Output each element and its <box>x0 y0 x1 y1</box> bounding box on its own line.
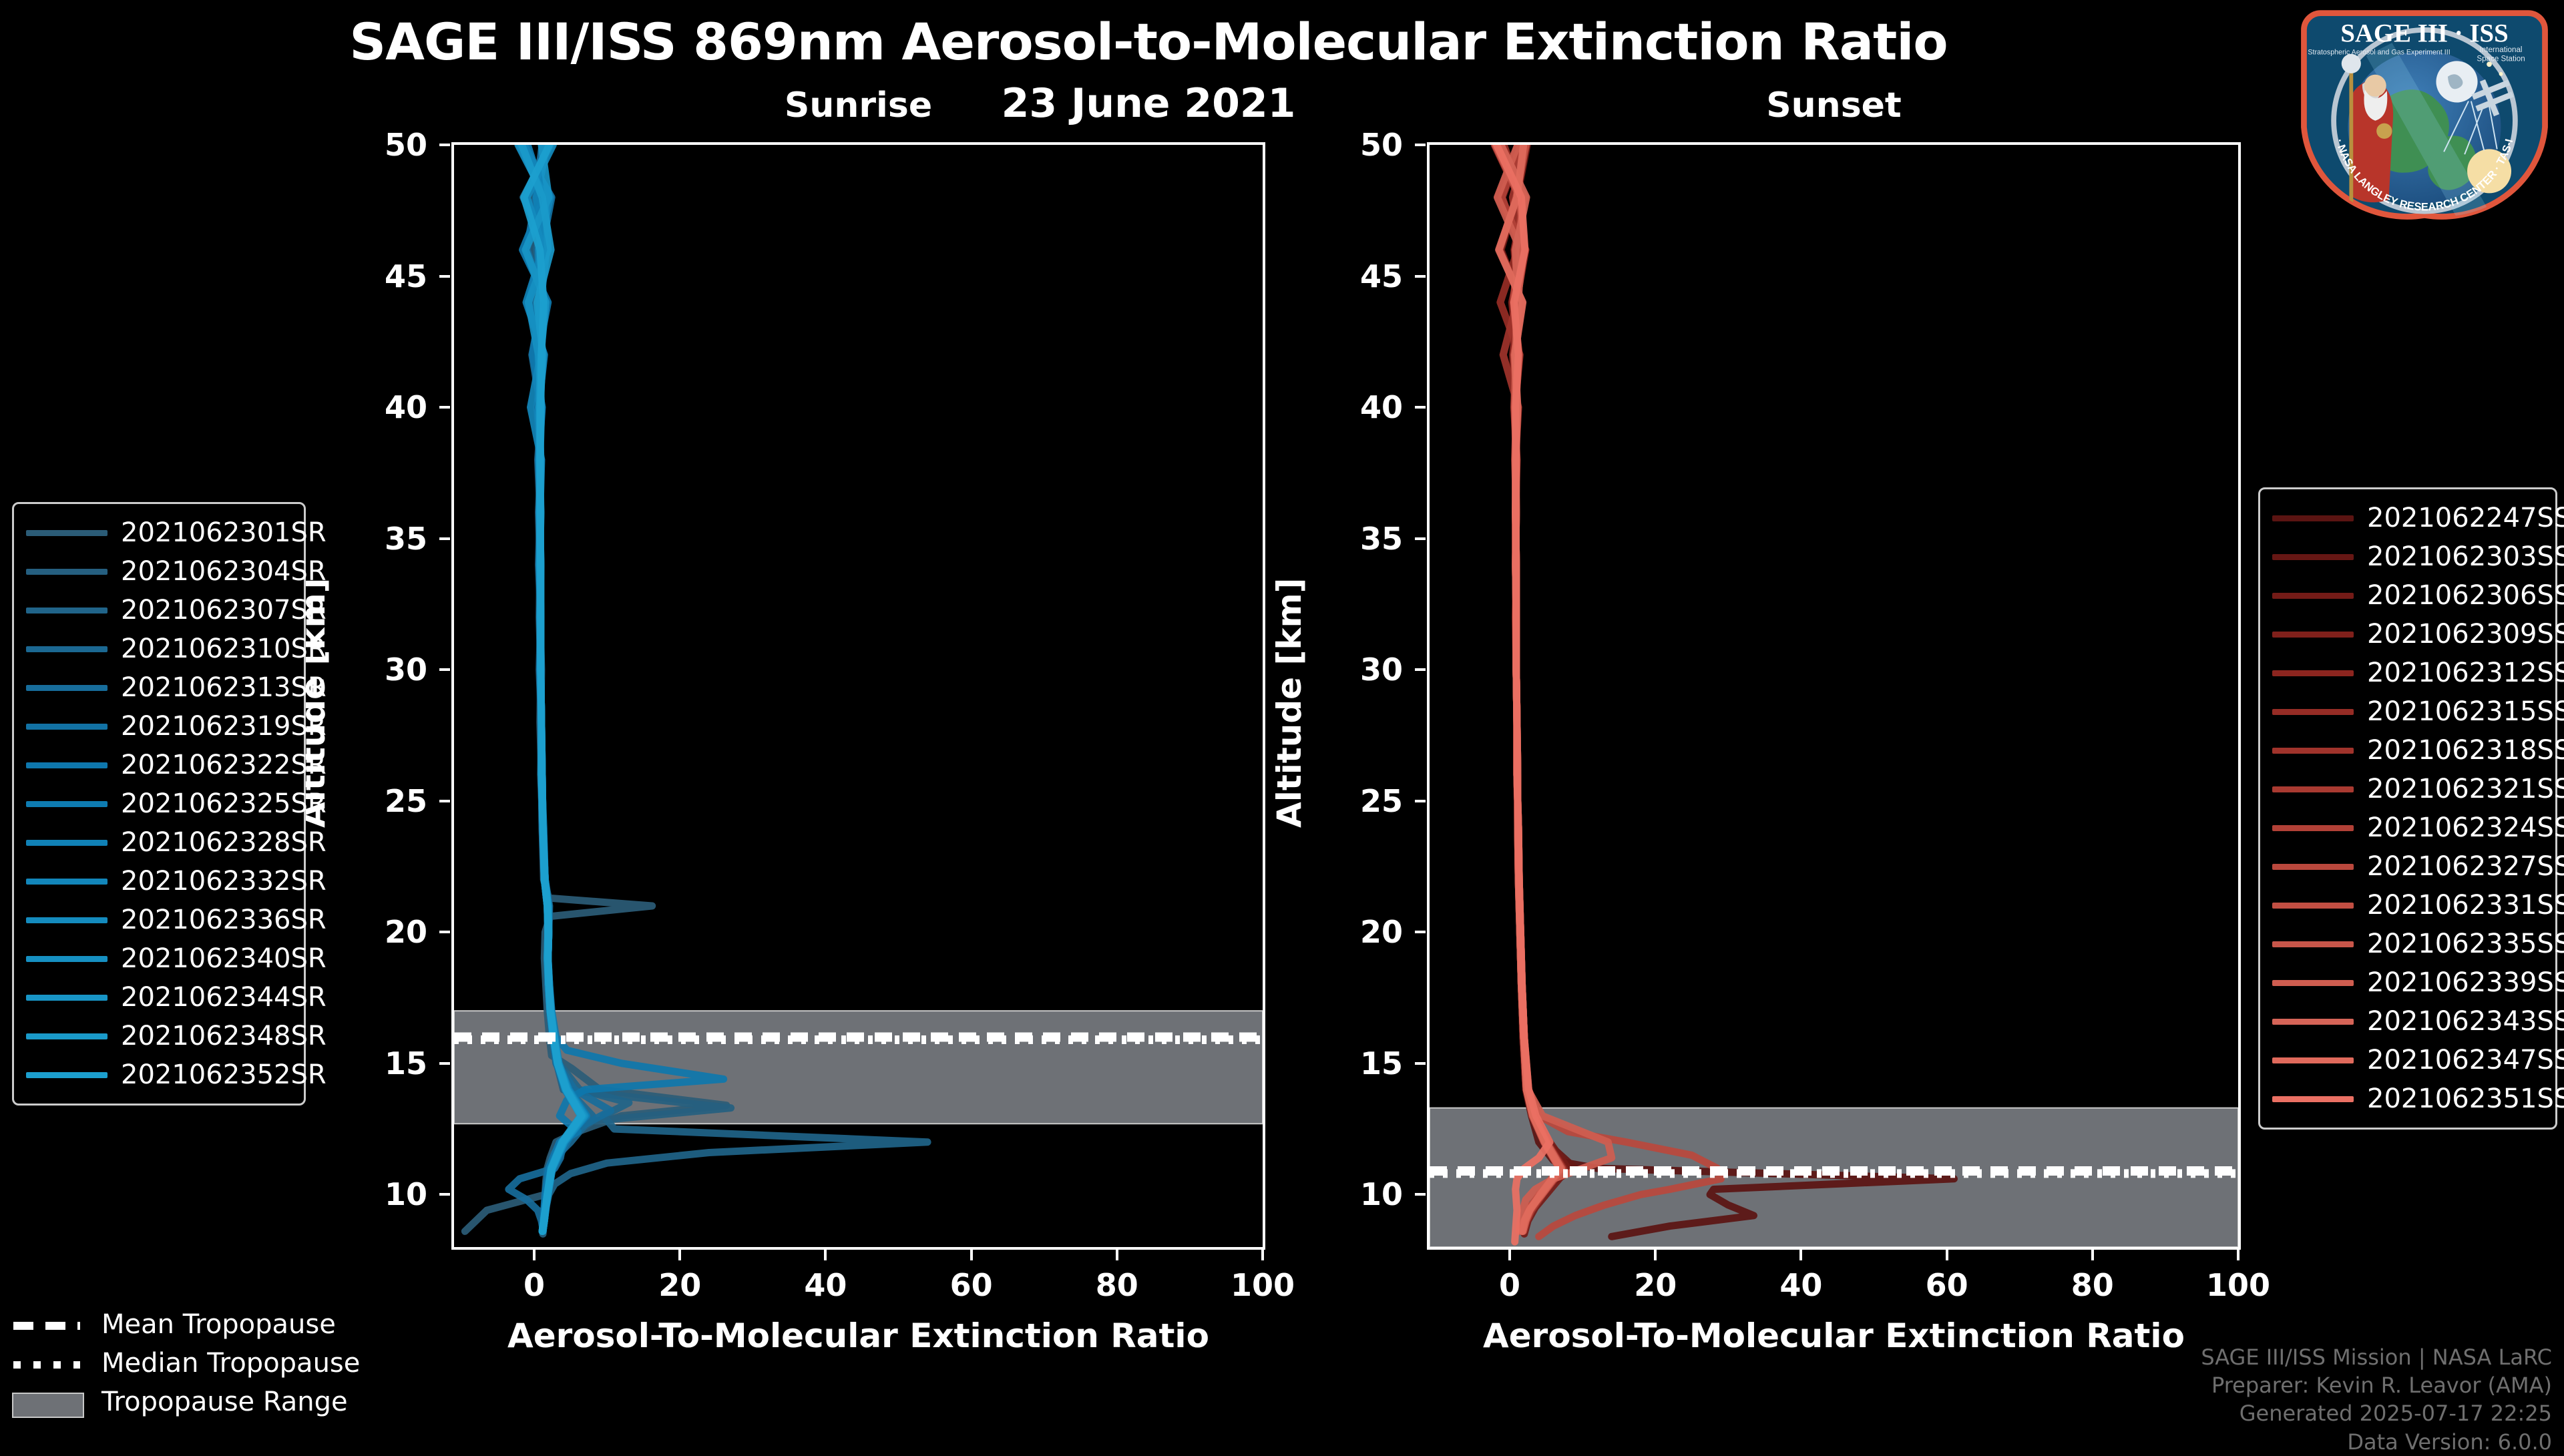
legend-item[interactable]: 2021062340SR <box>26 939 292 978</box>
legend-item[interactable]: 2021062247SS <box>2272 499 2543 537</box>
legend-item-mean-tropopause: Mean Tropopause <box>7 1305 381 1344</box>
legend-color-swatch <box>2272 980 2354 986</box>
legend-item-label: 2021062322SR <box>121 750 327 780</box>
y-axis-tick-mark <box>439 668 450 671</box>
profile-line <box>1500 145 1721 1236</box>
x-axis-tick-mark <box>824 1250 827 1260</box>
legend-item-label: 2021062328SR <box>121 827 327 858</box>
legend-color-swatch <box>2272 593 2354 599</box>
y-axis-tick-mark <box>1415 406 1426 409</box>
legend-item[interactable]: 2021062315SS <box>2272 692 2543 731</box>
legend-item-label: 2021062315SS <box>2367 696 2564 727</box>
legend-item-label: 2021062318SS <box>2367 735 2564 766</box>
x-axis-tick-mark <box>1508 1250 1511 1260</box>
legend-item[interactable]: 2021062322SR <box>26 746 292 784</box>
legend-item[interactable]: 2021062309SS <box>2272 615 2543 654</box>
page-title: SAGE III/ISS 869nm Aerosol-to-Molecular … <box>0 12 2297 71</box>
y-axis-tick-mark <box>439 800 450 802</box>
legend-item[interactable]: 2021062306SS <box>2272 576 2543 615</box>
legend-item-label: 2021062352SR <box>121 1059 327 1090</box>
y-axis-tick-mark <box>439 537 450 540</box>
svg-text:International: International <box>2480 45 2523 54</box>
y-axis-tick-mark <box>1415 668 1426 671</box>
y-axis-tick-mark <box>439 1193 450 1196</box>
x-axis-tick-mark <box>1261 1250 1264 1260</box>
legend-item-label: 2021062312SS <box>2367 658 2564 688</box>
legend-item-label: 2021062340SR <box>121 943 327 974</box>
legend-item-label: 2021062331SS <box>2367 890 2564 921</box>
legend-color-swatch <box>2272 554 2354 560</box>
y-axis-tick-label: 35 <box>327 521 427 557</box>
legend-item-label: 2021062339SS <box>2367 967 2564 998</box>
sunrise-event-legend: 2021062301SR2021062304SR2021062307SR2021… <box>12 502 306 1106</box>
legend-item[interactable]: 2021062318SS <box>2272 731 2543 770</box>
y-axis-tick-label: 20 <box>327 914 427 950</box>
y-axis-tick-mark <box>439 144 450 146</box>
x-axis-tick-label: 40 <box>772 1267 879 1303</box>
y-axis-tick-label: 30 <box>327 652 427 688</box>
sunset-event-legend: 2021062247SS2021062303SS2021062306SS2021… <box>2258 487 2557 1130</box>
x-axis-tick-mark <box>1116 1250 1118 1260</box>
x-axis-tick-label: 80 <box>1064 1267 1170 1303</box>
y-axis-tick-label: 45 <box>327 258 427 294</box>
legend-item-label: 2021062332SR <box>121 866 327 897</box>
y-axis-tick-mark <box>1415 1193 1426 1196</box>
x-axis-tick-label: 80 <box>2039 1267 2146 1303</box>
y-axis-tick-mark <box>1415 931 1426 933</box>
legend-item[interactable]: 2021062327SS <box>2272 847 2543 886</box>
legend-item-label: 2021062325SR <box>121 788 327 819</box>
svg-text:Space Station: Space Station <box>2477 54 2525 63</box>
legend-item-label: 2021062301SR <box>121 517 327 548</box>
legend-color-swatch <box>26 724 108 730</box>
y-axis-tick-label: 30 <box>1303 652 1403 688</box>
tropopause-legend: Mean Tropopause Median Tropopause Tropop… <box>7 1305 381 1421</box>
legend-color-swatch <box>26 646 108 652</box>
sunrise-x-axis-title: Aerosol-To-Molecular Extinction Ratio <box>451 1316 1265 1355</box>
legend-color-swatch <box>26 569 108 575</box>
legend-color-swatch <box>2272 1096 2354 1102</box>
legend-item[interactable]: 2021062324SS <box>2272 808 2543 847</box>
y-axis-tick-label: 50 <box>1303 127 1403 163</box>
legend-color-swatch <box>2272 1057 2354 1063</box>
legend-color-swatch <box>26 956 108 962</box>
legend-color-swatch <box>26 685 108 691</box>
legend-item[interactable]: 2021062339SS <box>2272 963 2543 1002</box>
svg-text:Stratospheric Aerosol and Gas: Stratospheric Aerosol and Gas Experiment… <box>2308 49 2450 57</box>
legend-color-swatch <box>26 879 108 885</box>
legend-color-swatch <box>26 762 108 768</box>
legend-color-swatch <box>2272 786 2354 792</box>
legend-item-label: 2021062335SS <box>2367 929 2564 959</box>
legend-item-label: 2021062303SS <box>2367 541 2564 572</box>
legend-color-swatch <box>26 917 108 923</box>
y-axis-tick-mark <box>1415 275 1426 278</box>
x-axis-tick-mark <box>678 1250 681 1260</box>
legend-item[interactable]: 2021062301SR <box>26 513 292 552</box>
sunrise-panel-title: Sunrise <box>451 85 1265 126</box>
legend-item-label: 2021062348SR <box>121 1021 327 1051</box>
sage-iii-iss-logo: SAGE III · ISS Stratospheric Aerosol and… <box>2294 4 2555 224</box>
legend-item[interactable]: 2021062348SR <box>26 1017 292 1055</box>
legend-item[interactable]: 2021062303SS <box>2272 537 2543 576</box>
y-axis-tick-mark <box>1415 537 1426 540</box>
y-axis-tick-label: 25 <box>327 783 427 819</box>
legend-item[interactable]: 2021062304SR <box>26 552 292 591</box>
x-axis-tick-mark <box>2237 1250 2239 1260</box>
legend-item[interactable]: 2021062331SS <box>2272 886 2543 925</box>
legend-item[interactable]: 2021062310SR <box>26 630 292 668</box>
legend-item[interactable]: 2021062325SR <box>26 784 292 823</box>
sunset-plot-panel <box>1427 142 2241 1250</box>
legend-item-median-tropopause: Median Tropopause <box>7 1344 381 1383</box>
legend-color-swatch <box>26 801 108 807</box>
y-axis-tick-label: 10 <box>327 1176 427 1212</box>
legend-item[interactable]: 2021062336SR <box>26 901 292 939</box>
x-axis-tick-mark <box>2091 1250 2094 1260</box>
legend-item[interactable]: 2021062344SR <box>26 978 292 1017</box>
sunrise-plot-panel <box>451 142 1265 1250</box>
y-axis-tick-label: 10 <box>1303 1176 1403 1212</box>
legend-item[interactable]: 2021062312SS <box>2272 654 2543 692</box>
x-axis-tick-mark <box>1799 1250 1802 1260</box>
credits-generated: Generated 2025-07-17 22:25 <box>2201 1399 2552 1427</box>
legend-item[interactable]: 2021062319SR <box>26 707 292 746</box>
legend-color-swatch <box>2272 941 2354 947</box>
credits-mission: SAGE III/ISS Mission | NASA LaRC <box>2201 1343 2552 1371</box>
x-axis-tick-label: 20 <box>1602 1267 1709 1303</box>
legend-item[interactable]: 2021062352SR <box>26 1055 292 1094</box>
legend-item[interactable]: 2021062332SR <box>26 862 292 901</box>
y-axis-tick-mark <box>1415 1062 1426 1065</box>
legend-item-label: 2021062306SS <box>2367 580 2564 611</box>
legend-color-swatch <box>26 1033 108 1039</box>
legend-color-swatch <box>2272 1019 2354 1025</box>
x-axis-tick-label: 40 <box>1747 1267 1854 1303</box>
sunset-plot-area <box>1430 145 2238 1247</box>
legend-color-swatch <box>2272 515 2354 521</box>
legend-color-swatch <box>26 530 108 536</box>
x-axis-tick-label: 60 <box>1894 1267 2000 1303</box>
y-axis-tick-label: 20 <box>1303 914 1403 950</box>
legend-item[interactable]: 2021062307SR <box>26 591 292 630</box>
x-axis-tick-label: 100 <box>2185 1267 2292 1303</box>
y-axis-tick-mark <box>1415 800 1426 802</box>
legend-color-swatch <box>2272 709 2354 715</box>
legend-item-tropopause-range: Tropopause Range <box>7 1383 381 1421</box>
legend-item[interactable]: 2021062347SS <box>2272 1041 2543 1079</box>
legend-item-label: 2021062343SS <box>2367 1006 2564 1037</box>
legend-item-label: 2021062327SS <box>2367 851 2564 882</box>
credits-preparer: Preparer: Kevin R. Leavor (AMA) <box>2201 1371 2552 1399</box>
legend-color-swatch <box>2272 903 2354 909</box>
legend-item-label: 2021062321SS <box>2367 774 2564 804</box>
x-axis-tick-mark <box>970 1250 973 1260</box>
legend-item-label: 2021062304SR <box>121 556 327 587</box>
legend-color-swatch <box>2272 670 2354 676</box>
credits-block: SAGE III/ISS Mission | NASA LaRC Prepare… <box>2201 1343 2552 1456</box>
legend-item-label: 2021062336SR <box>121 905 327 935</box>
y-axis-tick-mark <box>439 406 450 409</box>
sunset-x-axis-title: Aerosol-To-Molecular Extinction Ratio <box>1427 1316 2241 1355</box>
legend-item-label: 2021062351SS <box>2367 1083 2564 1114</box>
legend-color-swatch <box>2272 748 2354 754</box>
legend-item-label: 2021062310SR <box>121 634 327 664</box>
legend-item[interactable]: 2021062321SS <box>2272 770 2543 808</box>
legend-color-swatch <box>26 1072 108 1078</box>
legend-color-swatch <box>2272 632 2354 638</box>
profile-line <box>1502 145 1954 1236</box>
y-axis-tick-mark <box>439 275 450 278</box>
x-axis-tick-label: 100 <box>1209 1267 1316 1303</box>
x-axis-tick-mark <box>1946 1250 1948 1260</box>
y-axis-tick-label: 25 <box>1303 783 1403 819</box>
dashed-line-icon <box>7 1314 87 1334</box>
legend-color-swatch <box>2272 864 2354 870</box>
legend-item[interactable]: 2021062328SR <box>26 823 292 862</box>
x-axis-tick-label: 0 <box>481 1267 588 1303</box>
y-axis-tick-label: 15 <box>1303 1045 1403 1081</box>
y-axis-tick-mark <box>439 931 450 933</box>
x-axis-tick-mark <box>533 1250 536 1260</box>
legend-item[interactable]: 2021062351SS <box>2272 1079 2543 1118</box>
y-axis-tick-label: 40 <box>1303 389 1403 425</box>
legend-item-label: 2021062347SS <box>2367 1045 2564 1075</box>
dotted-line-icon <box>7 1353 87 1373</box>
legend-color-swatch <box>2272 825 2354 831</box>
x-axis-tick-label: 20 <box>626 1267 733 1303</box>
x-axis-tick-label: 60 <box>918 1267 1025 1303</box>
legend-item[interactable]: 2021062343SS <box>2272 1002 2543 1041</box>
y-axis-tick-mark <box>439 1062 450 1065</box>
legend-color-swatch <box>26 840 108 846</box>
sunset-y-axis-title: Altitude [km] <box>1270 577 1309 828</box>
legend-item-label: 2021062313SR <box>121 672 327 703</box>
legend-color-swatch <box>26 995 108 1001</box>
sunset-panel-title: Sunset <box>1427 85 2241 126</box>
legend-item[interactable]: 2021062313SR <box>26 668 292 707</box>
legend-item-label: 2021062307SR <box>121 595 327 626</box>
gray-band-swatch-icon <box>7 1392 87 1412</box>
legend-item-label: 2021062247SS <box>2367 503 2564 533</box>
y-axis-tick-label: 35 <box>1303 521 1403 557</box>
y-axis-tick-label: 40 <box>327 389 427 425</box>
x-axis-tick-mark <box>1654 1250 1657 1260</box>
legend-item[interactable]: 2021062335SS <box>2272 925 2543 963</box>
y-axis-tick-mark <box>1415 144 1426 146</box>
logo-title: SAGE III · ISS <box>2340 19 2508 47</box>
y-axis-tick-label: 45 <box>1303 258 1403 294</box>
legend-item-label: 2021062309SS <box>2367 619 2564 650</box>
x-axis-tick-label: 0 <box>1456 1267 1563 1303</box>
legend-item-label: 2021062344SR <box>121 982 327 1013</box>
legend-item-label: 2021062319SR <box>121 711 327 742</box>
y-axis-tick-label: 50 <box>327 127 427 163</box>
legend-color-swatch <box>26 608 108 614</box>
legend-item-label: 2021062324SS <box>2367 812 2564 843</box>
y-axis-tick-label: 15 <box>327 1045 427 1081</box>
sunrise-plot-area <box>454 145 1263 1247</box>
